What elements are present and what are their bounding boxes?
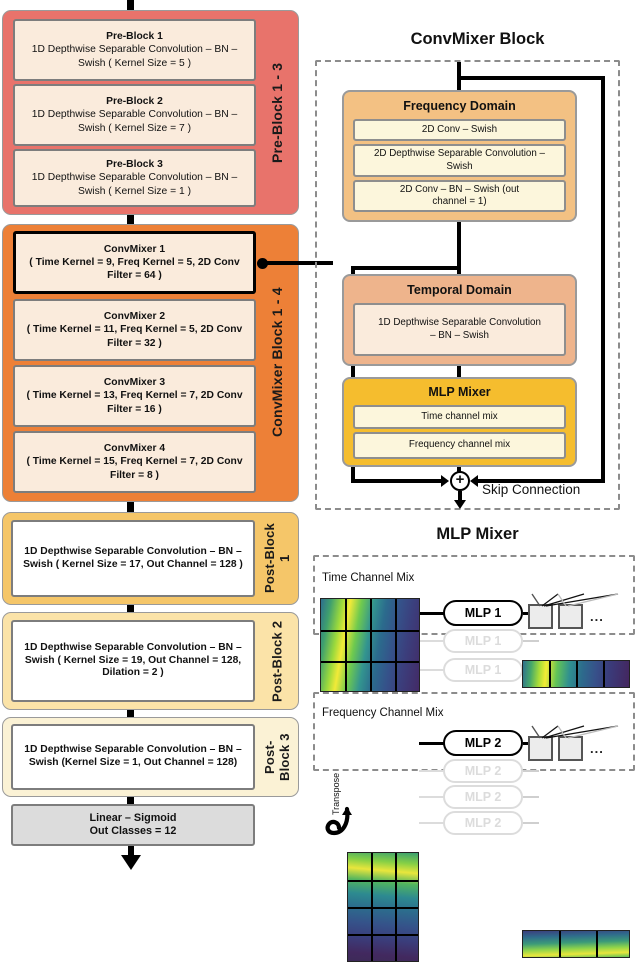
frequency-domain-item-2[interactable]: 2D Depthwise Separable Convolution – Swi… [353,144,566,177]
mlp-2-ghost-3: MLP 2 [443,811,523,835]
post-block-2-label: Post-Block 2 [258,620,296,702]
mlp-1-pill[interactable]: MLP 1 [443,600,523,626]
mlp1-ghost-out-1 [523,640,539,642]
skip-connection-label: Skip Connection [482,482,580,497]
skip-rail-left-top [351,266,461,270]
preblock-group-label: Pre-Block 1 - 3 [258,19,296,207]
transpose-arrow-icon [325,805,357,841]
sum-output-arrow [454,500,466,509]
post-block-3-label: Post-Block 3 [258,724,296,790]
time-channel-mix-label: Time Channel Mix [322,572,414,584]
freq-mix-spectrogram [347,852,419,962]
temporal-domain-item-1[interactable]: 1D Depthwise Separable Convolution – BN … [353,303,566,356]
convmixer-panel-title: ConvMixer Block [320,30,635,49]
convmixer-1-detail: ( Time Kernel = 9, Freq Kernel = 5, 2D C… [22,256,247,282]
frequency-channel-mix-label: Frequency Channel Mix [322,707,443,719]
skip-rail-left-bottom [351,479,441,483]
pre-block-1-detail: 1D Depthwise Separable Convolution – BN … [21,43,248,69]
temporal-domain-heading: Temporal Domain [342,283,577,297]
freq-mix-to-mlp2-line [419,742,444,745]
time-mix-to-mlp1-line [420,612,444,615]
convmixer-3-detail: ( Time Kernel = 13, Freq Kernel = 7, 2D … [21,389,248,415]
output-block[interactable]: Linear – Sigmoid Out Classes = 12 [11,804,255,846]
mlp2-ghost-out-3 [523,822,539,824]
pre-block-1-card[interactable]: Pre-Block 1 1D Depthwise Separable Convo… [13,19,256,81]
mlp2-ghost-line-1 [419,770,444,772]
output-exit-arrow [121,855,141,870]
freq-mix-output-strip [522,930,630,958]
freq-mix-fan-lines [522,724,632,740]
convmixer-3-card[interactable]: ConvMixer 3 ( Time Kernel = 13, Freq Ker… [13,365,256,427]
mlp-mixer-heading: MLP Mixer [342,385,577,399]
post-block-2-card[interactable]: 1D Depthwise Separable Convolution – BN … [11,620,255,702]
output-line-2: Out Classes = 12 [90,825,177,838]
frequency-domain-heading: Frequency Domain [342,99,577,113]
convmixer-4-title: ConvMixer 4 [21,442,248,455]
convmixer-1-title: ConvMixer 1 [22,243,247,256]
freq-mix-output-ellipsis: ... [590,741,604,756]
sum-symbol: + [456,472,465,487]
post-block-1-label: Post-Block 1 [258,520,296,597]
pre-block-2-detail: 1D Depthwise Separable Convolution – BN … [21,108,248,134]
convmixer-group-label: ConvMixer Block 1 - 4 [258,231,296,493]
mlp-1-ghost-2: MLP 1 [443,658,523,682]
pre-block-2-title: Pre-Block 2 [21,95,248,108]
mlp-1-ghost-1: MLP 1 [443,629,523,653]
convmixer-2-card[interactable]: ConvMixer 2 ( Time Kernel = 11, Freq Ker… [13,299,256,361]
mlp1-ghost-line-2 [420,669,444,671]
mlp-panel-title: MLP Mixer [320,525,635,544]
post-block-1-card[interactable]: 1D Depthwise Separable Convolution – BN … [11,520,255,597]
mlp-mixer-item-1[interactable]: Time channel mix [353,405,566,429]
skip-arrow-right [470,475,478,487]
skip-branch-top [457,76,605,80]
convmixer-4-detail: ( Time Kernel = 15, Freq Kernel = 7, 2D … [21,455,248,481]
frequency-domain-item-3[interactable]: 2D Conv – BN – Swish (out channel = 1) [353,180,566,212]
output-line-1: Linear – Sigmoid [90,812,177,825]
pre-block-1-title: Pre-Block 1 [21,30,248,43]
convmixer-4-card[interactable]: ConvMixer 4 ( Time Kernel = 15, Freq Ker… [13,431,256,493]
convmixer-1-card[interactable]: ConvMixer 1 ( Time Kernel = 9, Freq Kern… [13,231,256,294]
mlp2-ghost-line-3 [419,822,444,824]
pre-block-3-detail: 1D Depthwise Separable Convolution – BN … [21,171,248,197]
mlp2-ghost-out-1 [523,770,539,772]
mlp-mixer-item-2[interactable]: Frequency channel mix [353,432,566,459]
time-mix-spectrogram [320,598,420,692]
post-block-3-card[interactable]: 1D Depthwise Separable Convolution – BN … [11,724,255,790]
time-mix-output-strip [522,660,630,688]
mlp-2-ghost-1: MLP 2 [443,759,523,783]
pre-block-3-card[interactable]: Pre-Block 3 1D Depthwise Separable Convo… [13,149,256,207]
skip-arrow-left [441,475,449,487]
skip-branch-right [601,76,605,481]
frequency-domain-item-1[interactable]: 2D Conv – Swish [353,119,566,141]
mlp-2-ghost-2: MLP 2 [443,785,523,809]
convmixer-2-title: ConvMixer 2 [21,310,248,323]
mlp2-ghost-out-2 [523,796,539,798]
convmixer-3-title: ConvMixer 3 [21,376,248,389]
mlp2-ghost-line-2 [419,796,444,798]
time-mix-output-ellipsis: ... [590,609,604,624]
convmixer-2-detail: ( Time Kernel = 11, Freq Kernel = 5, 2D … [21,323,248,349]
time-mix-fan-lines [522,592,632,608]
mlp1-ghost-line-1 [420,640,444,642]
skip-sum-node: + [450,471,470,491]
pre-block-3-title: Pre-Block 3 [21,158,248,171]
mlp-2-pill[interactable]: MLP 2 [443,730,523,756]
pre-block-2-card[interactable]: Pre-Block 2 1D Depthwise Separable Convo… [13,84,256,146]
